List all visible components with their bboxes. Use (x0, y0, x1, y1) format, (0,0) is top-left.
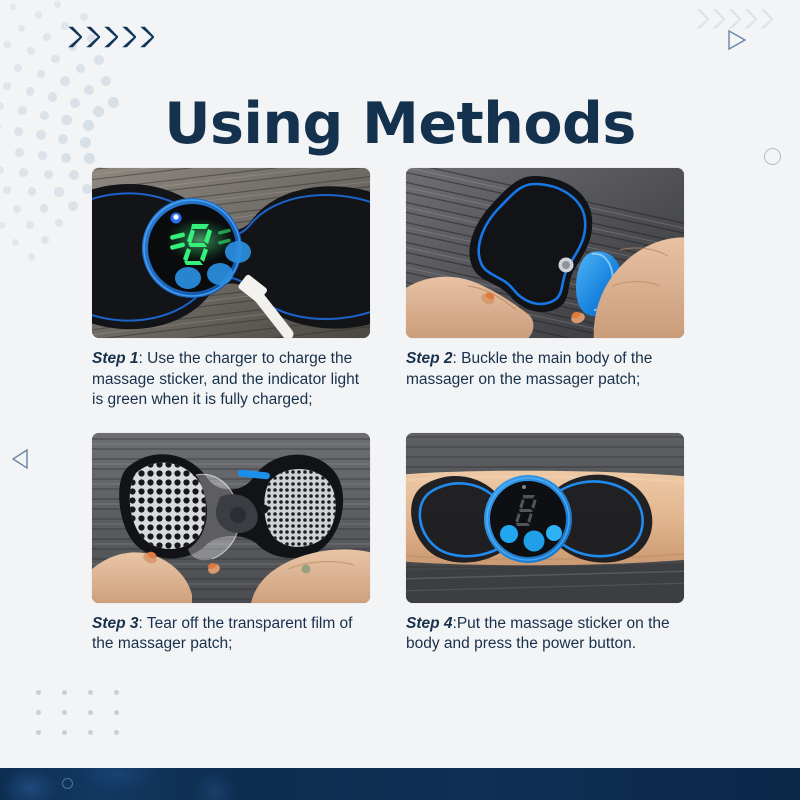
steps-grid: Step 1: Use the charger to charge the ma… (92, 168, 692, 655)
chevron-right-icon (694, 8, 709, 30)
chevron-right-icon (742, 8, 757, 30)
step-3-photo (92, 433, 370, 603)
chevron-right-icon (120, 25, 136, 49)
step-1-label: Step 1 (92, 350, 139, 367)
bottom-bar-circle-icon (62, 778, 73, 789)
bottom-bar (0, 768, 800, 800)
step-1-photo (92, 168, 370, 338)
step-2-separator: : (453, 350, 462, 367)
chevron-right-icon (84, 25, 100, 49)
chevron-right-icon (710, 8, 725, 30)
chevron-group-left (66, 25, 154, 49)
massager-applied-to-forearm-image (406, 433, 684, 603)
page-title: Using Methods (0, 96, 800, 153)
step-card-2: Step 2: Buckle the main body of the mass… (406, 168, 684, 411)
step-2-photo (406, 168, 684, 338)
bottom-bar-texture (0, 768, 300, 800)
step-2-caption: Step 2: Buckle the main body of the mass… (406, 349, 684, 390)
massager-charging-green-indicator-image (92, 168, 370, 338)
chevron-group-right (694, 8, 773, 30)
dot-grid-decoration (36, 690, 131, 750)
step-3-label: Step 3 (92, 615, 139, 632)
step-1-separator: : (139, 350, 148, 367)
step-card-3: Step 3: Tear off the transparent film of… (92, 433, 370, 655)
hands-buckling-body-on-patch-image (406, 168, 684, 338)
chevron-right-icon (138, 25, 154, 49)
step-card-4: Step 4:Put the massage sticker on the bo… (406, 433, 684, 655)
back-triangle-outline-icon (10, 448, 30, 475)
step-4-photo (406, 433, 684, 603)
chevron-right-icon (726, 8, 741, 30)
play-triangle-outline-icon (726, 28, 748, 57)
step-2-label: Step 2 (406, 350, 453, 367)
step-4-caption: Step 4:Put the massage sticker on the bo… (406, 614, 684, 655)
step-3-separator: : (139, 615, 147, 632)
hands-peeling-transparent-film-image (92, 433, 370, 603)
step-3-caption: Step 3: Tear off the transparent film of… (92, 614, 370, 655)
chevron-right-icon (758, 8, 773, 30)
chevron-right-icon (66, 25, 82, 49)
step-4-label: Step 4 (406, 615, 453, 632)
chevron-right-icon (102, 25, 118, 49)
infographic-page: Using Methods (0, 0, 800, 800)
step-card-1: Step 1: Use the charger to charge the ma… (92, 168, 370, 411)
step-1-caption: Step 1: Use the charger to charge the ma… (92, 349, 370, 411)
